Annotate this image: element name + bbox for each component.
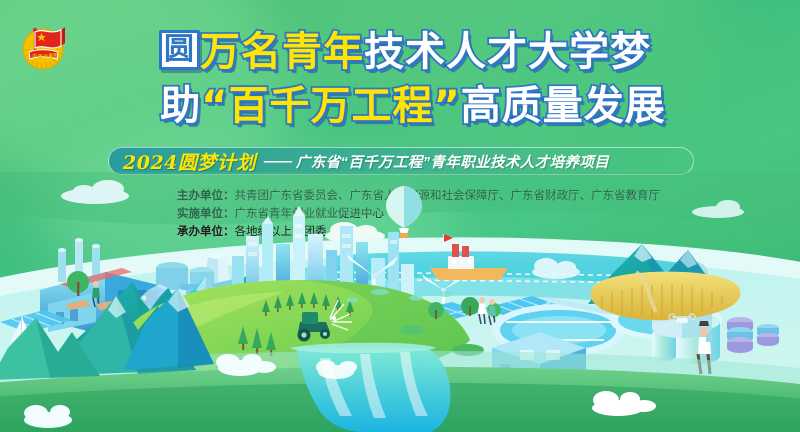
headline-seg: 高质量发展 <box>461 86 666 126</box>
headline-line-2: 助“百千万工程”高质量发展 <box>26 86 800 126</box>
headline-line-1: 圆万名青年技术人才大学梦 <box>10 30 800 72</box>
headline-seg: 技术人才大学梦 <box>364 32 651 72</box>
svg-text:国: 国 <box>38 53 43 60</box>
ribbon-dash: —— <box>264 153 290 170</box>
headline-block: 圆万名青年技术人才大学梦 助“百千万工程”高质量发展 <box>0 30 800 126</box>
poster-banner: 中国共青团 圆万名青年技术人才大学梦 助“百千万工程”高质量发展 2024圆梦计… <box>0 0 800 432</box>
ribbon-subtitle-text: 广东省“百千万工程”青年职业技术人才培养项目 <box>296 151 609 172</box>
isometric-eco-city-illustration <box>0 172 800 432</box>
bush-icon <box>400 325 424 335</box>
ribbon-year-label: 2024圆梦计划 <box>123 148 256 175</box>
communist-youth-league-emblem: 中国共青团 <box>17 19 71 73</box>
background-blob <box>300 0 720 160</box>
subtitle-ribbon: 2024圆梦计划 —— 广东省“百千万工程”青年职业技术人才培养项目 <box>108 147 694 175</box>
headline-seg: 圆 <box>159 30 200 70</box>
headline-seg: 万名青年 <box>200 32 364 72</box>
svg-text:团: 团 <box>53 52 58 59</box>
headline-seg: 助 <box>160 86 201 126</box>
hot-air-balloon-icon <box>386 186 422 238</box>
headline-seg: “百千万工程” <box>201 86 461 126</box>
svg-text:中: 中 <box>33 52 38 59</box>
